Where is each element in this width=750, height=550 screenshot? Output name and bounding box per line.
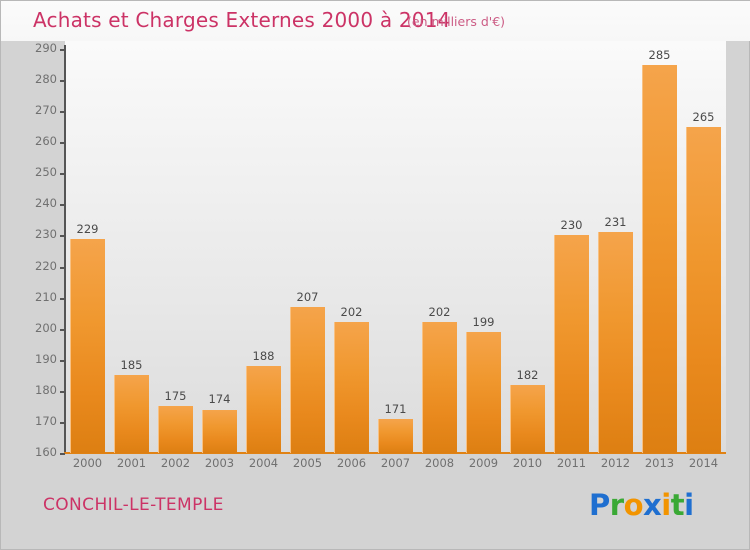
x-axis-tick-label: 2003 xyxy=(205,456,234,470)
bar[interactable] xyxy=(422,322,457,453)
y-axis-tick-label: 220 xyxy=(35,259,57,273)
bar-value-label: 231 xyxy=(605,215,627,229)
y-axis-tick-label: 190 xyxy=(35,352,57,366)
y-axis-tick-mark xyxy=(60,453,65,455)
y-axis-tick-label: 250 xyxy=(35,165,57,179)
bar-value-label: 202 xyxy=(429,305,451,319)
bar-group: 1742003 xyxy=(202,1,237,453)
bar[interactable] xyxy=(290,307,325,453)
bar[interactable] xyxy=(686,127,721,453)
bar-group: 2072005 xyxy=(290,1,325,453)
y-axis-tick: 180 xyxy=(1,391,65,392)
x-axis-tick-label: 2009 xyxy=(469,456,498,470)
y-axis-tick: 190 xyxy=(1,360,65,361)
x-axis-tick-label: 2011 xyxy=(557,456,586,470)
y-axis-tick: 210 xyxy=(1,298,65,299)
bar-value-label: 285 xyxy=(649,48,671,62)
y-axis-tick-mark xyxy=(60,49,65,51)
x-axis-tick-label: 2001 xyxy=(117,456,146,470)
bar[interactable] xyxy=(246,366,281,453)
y-axis-tick-label: 180 xyxy=(35,383,57,397)
y-axis-tick: 170 xyxy=(1,422,65,423)
bar-value-label: 174 xyxy=(209,392,231,406)
x-axis-tick-label: 2002 xyxy=(161,456,190,470)
logo-letter-4: i xyxy=(661,488,670,522)
bar-group: 1752002 xyxy=(158,1,193,453)
logo-letter-1: r xyxy=(610,488,624,522)
x-axis-tick-label: 2008 xyxy=(425,456,454,470)
bar-value-label: 265 xyxy=(693,110,715,124)
bar-group: 2652014 xyxy=(686,1,721,453)
bar-value-label: 230 xyxy=(561,218,583,232)
y-axis-tick-mark xyxy=(60,329,65,331)
chart-page: Achats et Charges Externes 2000 à 2014 (… xyxy=(0,0,750,550)
y-axis-tick: 280 xyxy=(1,80,65,81)
logo-letter-2: o xyxy=(624,488,643,522)
y-axis-tick: 290 xyxy=(1,49,65,50)
bar[interactable] xyxy=(334,322,369,453)
logo-letter-3: x xyxy=(643,488,661,522)
x-axis-tick-label: 2007 xyxy=(381,456,410,470)
bar-value-label: 202 xyxy=(341,305,363,319)
bar-group: 2022008 xyxy=(422,1,457,453)
x-axis-tick-label: 2004 xyxy=(249,456,278,470)
y-axis-tick-label: 240 xyxy=(35,196,57,210)
bar-value-label: 207 xyxy=(297,290,319,304)
x-axis-tick-label: 2010 xyxy=(513,456,542,470)
bar[interactable] xyxy=(158,406,193,453)
y-axis-tick-label: 230 xyxy=(35,227,57,241)
bar-group: 2302011 xyxy=(554,1,589,453)
y-axis-tick: 160 xyxy=(1,453,65,454)
x-axis-tick-label: 2006 xyxy=(337,456,366,470)
x-axis-tick-label: 2000 xyxy=(73,456,102,470)
bar-value-label: 188 xyxy=(253,349,275,363)
y-axis-tick-mark xyxy=(60,391,65,393)
y-axis-tick-mark xyxy=(60,173,65,175)
bar[interactable] xyxy=(554,235,589,453)
bar-group: 2312012 xyxy=(598,1,633,453)
y-axis-tick-label: 160 xyxy=(35,445,57,459)
bar[interactable] xyxy=(598,232,633,453)
y-axis-tick: 260 xyxy=(1,142,65,143)
bar-value-label: 175 xyxy=(165,389,187,403)
bar-group: 1822010 xyxy=(510,1,545,453)
y-axis-tick-mark xyxy=(60,267,65,269)
commune-name: CONCHIL-LE-TEMPLE xyxy=(43,495,224,515)
bar[interactable] xyxy=(70,239,105,453)
bar[interactable] xyxy=(114,375,149,453)
logo-letter-0: P xyxy=(589,488,610,522)
y-axis-tick-label: 260 xyxy=(35,134,57,148)
y-axis-tick-mark xyxy=(60,422,65,424)
bar[interactable] xyxy=(466,332,501,453)
y-axis-tick-mark xyxy=(60,235,65,237)
bar-value-label: 171 xyxy=(385,402,407,416)
bar[interactable] xyxy=(642,65,677,453)
y-axis-tick-mark xyxy=(60,142,65,144)
y-axis-tick-label: 270 xyxy=(35,103,57,117)
y-axis-tick: 270 xyxy=(1,111,65,112)
y-axis-tick-mark xyxy=(60,298,65,300)
logo-letter-5: t xyxy=(671,488,684,522)
bar-value-label: 182 xyxy=(517,368,539,382)
x-axis-tick-label: 2014 xyxy=(689,456,718,470)
y-axis-tick-label: 200 xyxy=(35,321,57,335)
bar-value-label: 185 xyxy=(121,358,143,372)
y-axis-tick-mark xyxy=(60,360,65,362)
y-axis-tick: 250 xyxy=(1,173,65,174)
bar-group: 2852013 xyxy=(642,1,677,453)
y-axis-tick: 200 xyxy=(1,329,65,330)
bar-group: 1882004 xyxy=(246,1,281,453)
bar-group: 2022006 xyxy=(334,1,369,453)
y-axis-tick-mark xyxy=(60,111,65,113)
x-axis-tick-label: 2005 xyxy=(293,456,322,470)
bar-group: 2292000 xyxy=(70,1,105,453)
bar-group: 1992009 xyxy=(466,1,501,453)
y-axis-tick-mark xyxy=(60,80,65,82)
bar-value-label: 199 xyxy=(473,315,495,329)
bar[interactable] xyxy=(510,385,545,453)
y-axis-tick: 230 xyxy=(1,235,65,236)
bar-value-label: 229 xyxy=(77,222,99,236)
bar[interactable] xyxy=(202,410,237,454)
y-axis-tick-label: 280 xyxy=(35,72,57,86)
bar-group: 1712007 xyxy=(378,1,413,453)
bar[interactable] xyxy=(378,419,413,453)
x-axis-tick-label: 2012 xyxy=(601,456,630,470)
bar-group: 1852001 xyxy=(114,1,149,453)
y-axis-tick-mark xyxy=(60,204,65,206)
y-axis-tick: 240 xyxy=(1,204,65,205)
y-axis-tick-label: 210 xyxy=(35,290,57,304)
proxiti-logo[interactable]: Proxiti xyxy=(589,488,694,522)
logo-letter-6: i xyxy=(684,488,693,522)
y-axis-tick-label: 170 xyxy=(35,414,57,428)
x-axis-tick-label: 2013 xyxy=(645,456,674,470)
y-axis-tick: 220 xyxy=(1,267,65,268)
y-axis-tick-label: 290 xyxy=(35,41,57,55)
